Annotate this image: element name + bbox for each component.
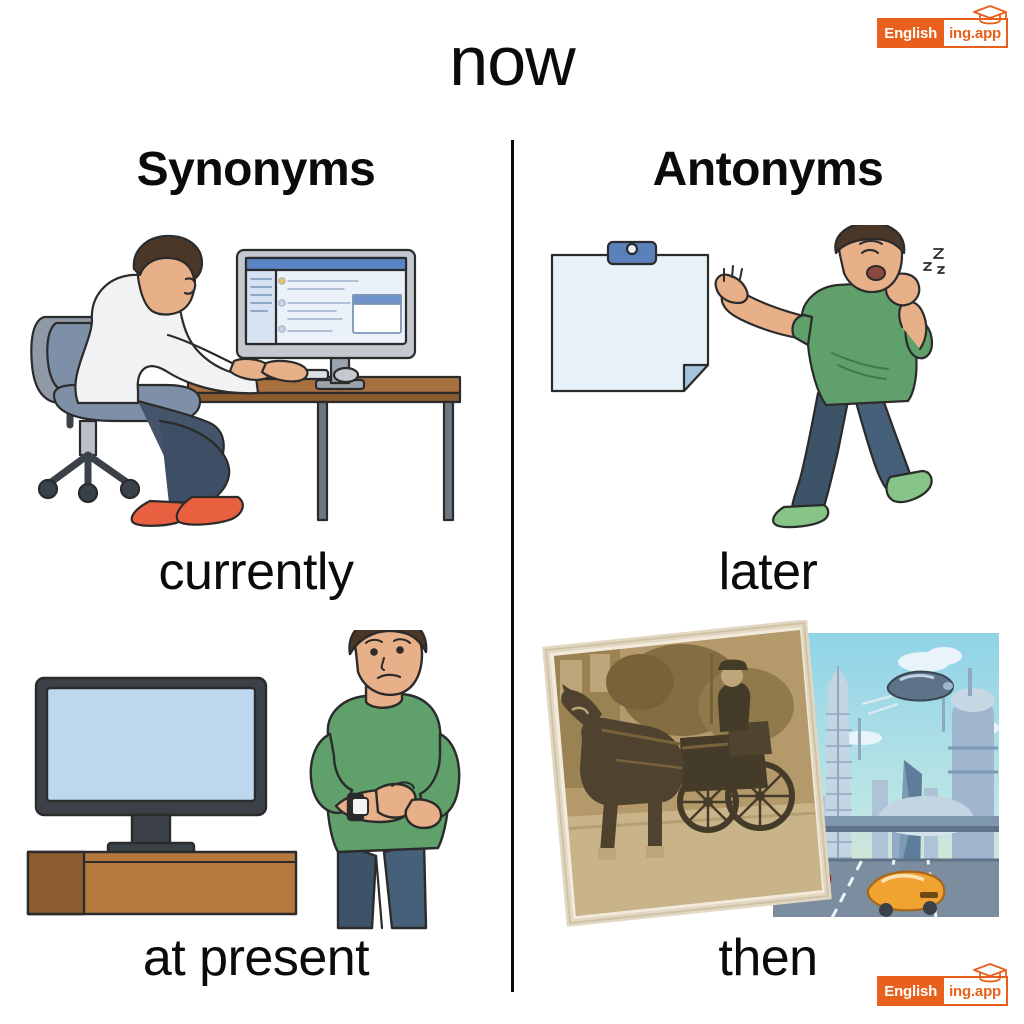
antonyms-heading: Antonyms (512, 142, 1024, 197)
graduation-cap-icon (970, 3, 1010, 25)
graduation-cap-icon-bottom (970, 961, 1010, 983)
vintage-photo-and-futuristic-city-icon (532, 620, 1004, 930)
infographic-page: English ing.app now Synonyms Antonyms (0, 0, 1024, 1024)
vintage-sepia-photo (542, 620, 832, 930)
illustration-later (532, 225, 1004, 530)
brand-logo-bottom[interactable]: English ing.app (877, 980, 1008, 1006)
caption-currently: currently (0, 546, 512, 598)
man-checking-wristwatch-beside-tv-icon (20, 630, 492, 930)
synonyms-heading: Synonyms (0, 142, 512, 197)
illustration-currently (20, 225, 492, 530)
caption-later: later (512, 546, 1024, 598)
illustration-then (532, 620, 1004, 930)
yawning-man-postponing-task-icon (532, 225, 1004, 530)
illustration-at-present (20, 630, 492, 930)
caption-at-present: at present (0, 932, 512, 984)
man-working-at-computer-desk-icon (20, 225, 492, 530)
brand-name-part-one-bottom: English (879, 978, 942, 1004)
page-title: now (0, 26, 1024, 96)
brand-logo-box-bottom: English ing.app (877, 976, 1008, 1006)
